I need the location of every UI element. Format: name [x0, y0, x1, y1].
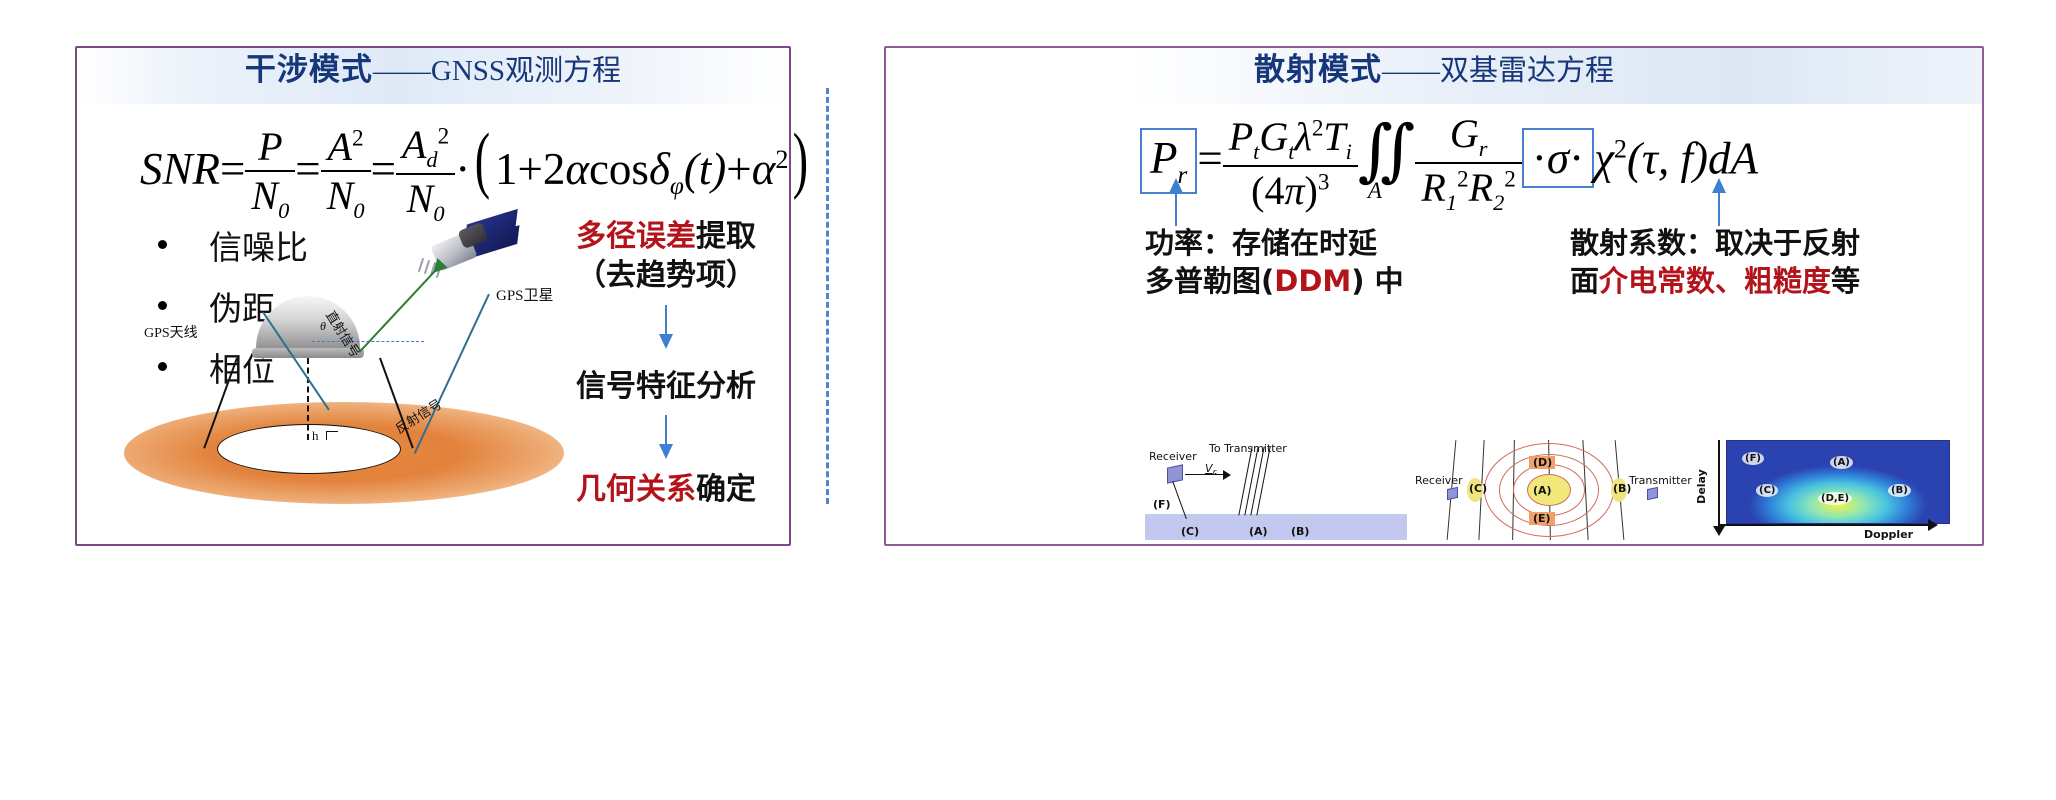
scattering-geometry-diagram: Receiver To Transmitter Vr (F) (C) (A) (… [1145, 440, 1407, 540]
arrow-down-icon [651, 305, 681, 351]
glistening-transmitter-label: Transmitter [1629, 474, 1692, 487]
arrow-up-sigma-icon [1706, 178, 1732, 226]
delay-axis-arrow [1713, 526, 1725, 536]
fraction-numerator: PtGtλ2Ti [1223, 113, 1358, 165]
ddm-marker-a: (A) [1830, 456, 1853, 469]
num-sub: d [426, 147, 437, 172]
fraction-denominator: (4π)3 [1223, 165, 1358, 214]
flow-step-1-subtitle: （去趋势项） [566, 256, 766, 295]
point-f-label: (F) [1153, 498, 1171, 511]
fraction-denominator: R12R22 [1415, 162, 1521, 216]
power-caption-line1: 功率：存储在时延 [1145, 224, 1404, 262]
ddm-marker-de: (D,E) [1818, 492, 1852, 505]
right-title-normal: ——双基雷达方程 [1382, 55, 1614, 87]
right-panel-title: 散射模式——双基雷达方程 [886, 55, 1982, 86]
point-a-label: (A) [1249, 525, 1268, 538]
chi-args: (τ, f) [1627, 133, 1708, 183]
alpha-squared: α [752, 144, 776, 194]
zone-c-label: (C) [1469, 482, 1487, 495]
doppler-axis-arrow [1928, 519, 1938, 531]
eq-equals-3: = [371, 144, 396, 194]
delta-symbol: δ [649, 144, 670, 194]
diagram-canvas: (D) (C) (A) (B) (E) Receiver Transmitter [1415, 440, 1683, 540]
integral-domain: A [1368, 178, 1382, 204]
doppler-axis-line [1718, 524, 1932, 526]
flow-step-3: 几何关系确定 [566, 471, 766, 509]
to-transmitter-label: To Transmitter [1209, 442, 1287, 455]
chi-symbol: χ [1594, 133, 1614, 183]
arrow-up-power-icon [1163, 178, 1189, 226]
fraction-numerator: A2 [321, 123, 371, 170]
sigma-symbol: σ [1547, 133, 1569, 183]
velocity-label: Vr [1205, 462, 1216, 478]
paren-open: ( [1251, 168, 1264, 213]
sigma-suffix: 等 [1831, 264, 1860, 298]
zone-a-label: (A) [1533, 484, 1552, 497]
right-title-bold: 散射模式 [1254, 52, 1382, 88]
power-caption: 功率：存储在时延 多普勒图(DDM) 中 [1145, 224, 1404, 301]
dot-right: · [1569, 133, 1584, 183]
zone-e-label: (E) [1533, 512, 1551, 525]
ti-subscript: i [1346, 139, 1352, 164]
ddm-suffix: ) 中 [1351, 264, 1403, 298]
pr-symbol: P [1150, 133, 1178, 183]
pi-symbol: π [1284, 168, 1304, 213]
left-panel-title: 干涉模式——GNSS观测方程 [77, 55, 789, 86]
point-c-label: (C) [1181, 525, 1199, 538]
flow-step-3-red: 几何关系 [576, 472, 696, 507]
receiver-label: Receiver [1149, 450, 1197, 463]
point-b-label: (B) [1291, 525, 1309, 538]
gnss-interferometry-illustration: h θ GPS天线 GPS卫星 直射信号 反射信号 [96, 206, 566, 506]
lambda-exponent: 2 [1312, 115, 1324, 141]
sigma-prefix: 面 [1570, 264, 1599, 298]
cos-operator: cos [589, 144, 649, 194]
satellite-label: GPS卫星 [496, 284, 554, 305]
r1-subscript: 1 [1446, 190, 1457, 215]
flow-step-2: 信号特征分析 [566, 361, 766, 405]
four-literal: 4 [1264, 168, 1284, 213]
cube-exponent: 3 [1318, 169, 1330, 195]
left-flow-column: 多径误差提取 （去趋势项） 信号特征分析 几何关系确定 [566, 218, 766, 509]
flow-step-1-red: 多径误差 [576, 219, 696, 254]
power-caption-line2: 多普勒图(DDM) 中 [1145, 262, 1404, 300]
glistening-receiver-label: Receiver [1415, 474, 1463, 487]
ddm-marker-b: (B) [1888, 484, 1911, 497]
plus-sign-2: + [726, 144, 751, 194]
height-dashed-line [307, 358, 311, 440]
differential-area: dA [1708, 133, 1758, 183]
velocity-arrowhead [1223, 470, 1231, 480]
paren-close: ) [793, 118, 808, 203]
ddm-plot-area: (F) (A) (C) (D,E) (B) [1726, 440, 1950, 524]
num-a: A [328, 124, 352, 169]
doppler-axis-label: Doppler [1864, 528, 1913, 541]
receiver-icon [1167, 464, 1183, 483]
fraction-numerator: Gr [1415, 110, 1521, 162]
dot-left: · [1532, 133, 1547, 183]
fraction-gr-r1r2: GrR12R22 [1415, 110, 1521, 216]
eq-equals: = [1197, 133, 1222, 183]
sigma-highlight: 介电常数、粗糙度 [1599, 264, 1831, 298]
scattering-coefficient-box: ·σ· [1522, 128, 1594, 188]
alpha-exponent: 2 [775, 145, 788, 174]
left-panel-header: 干涉模式——GNSS观测方程 [77, 48, 789, 104]
sigma-caption: 散射系数：取决于反射 面介电常数、粗糙度等 [1570, 224, 1860, 301]
velocity-subscript: r [1213, 467, 1217, 478]
ddm-marker-f: (F) [1742, 452, 1764, 465]
eq-dot: · [455, 144, 470, 194]
r2-symbol: R [1469, 165, 1493, 210]
gt-symbol: G [1259, 114, 1288, 159]
fraction-numerator: P [245, 123, 295, 170]
term-one: 1 [495, 144, 518, 194]
eq-lhs: SNR [140, 144, 220, 194]
sigma-caption-line1: 散射系数：取决于反射 [1570, 224, 1860, 262]
right-panel-header: 散射模式——双基雷达方程 [886, 48, 1982, 104]
height-label: h [312, 428, 319, 444]
alpha-symbol: α [565, 144, 589, 194]
paren-close: ) [1305, 168, 1318, 213]
ddm-acronym: DDM [1274, 264, 1351, 298]
r2-subscript: 2 [1493, 190, 1504, 215]
antenna-label: GPS天线 [144, 322, 198, 342]
left-title-normal: ——GNSS观测方程 [373, 55, 621, 87]
delay-axis-label: Delay [1695, 469, 1708, 504]
pt-symbol: P [1229, 114, 1253, 159]
left-title-bold: 干涉模式 [245, 52, 373, 88]
velocity-arrow [1185, 474, 1225, 475]
diagram-canvas: Receiver To Transmitter Vr (F) (C) (A) (… [1145, 440, 1407, 540]
sigma-caption-line2: 面介电常数、粗糙度等 [1570, 262, 1860, 300]
chi-exponent: 2 [1614, 134, 1627, 163]
time-arg: (t) [684, 144, 726, 194]
num-sup: 2 [352, 126, 364, 152]
panel-divider [826, 88, 829, 504]
gps-satellite-icon [394, 210, 514, 290]
glistening-zone-diagram: (D) (C) (A) (B) (E) Receiver Transmitter [1415, 440, 1683, 540]
delta-subscript: φ [670, 173, 684, 200]
double-integral-symbol: ∬A [1358, 110, 1415, 190]
ddm-prefix: 多普勒图( [1145, 264, 1274, 298]
glistening-transmitter-icon [1647, 487, 1658, 500]
ddm-heatmap-diagram: (F) (A) (C) (D,E) (B) Delay Doppler [1700, 440, 1950, 540]
plus-sign: + [517, 144, 542, 194]
ray-line [1256, 447, 1270, 516]
paren-open: ( [475, 118, 490, 203]
fraction-main: PtGtλ2Ti(4π)3 [1223, 113, 1358, 214]
gr-symbol: G [1450, 111, 1479, 156]
slide-root: 干涉模式——GNSS观测方程 SNR=PN0=A2N0=Ad2N0·(1+2αc… [0, 0, 2056, 800]
gr-subscript: r [1479, 136, 1488, 161]
eq-equals-1: = [220, 144, 245, 194]
num-a: A [402, 122, 426, 167]
flow-step-1: 多径误差提取 [566, 218, 766, 256]
lambda-symbol: λ [1295, 114, 1312, 159]
flow-step-1-black: 提取 [696, 219, 756, 254]
ti-symbol: T [1323, 114, 1345, 159]
num-sup: 2 [438, 123, 450, 149]
flow-step-3-black: 确定 [696, 472, 756, 507]
integral-glyph: ∬ [1358, 113, 1415, 188]
zone-d-label: (D) [1533, 456, 1552, 469]
arrow-down-icon [651, 415, 681, 461]
r1-symbol: R [1421, 165, 1445, 210]
delay-axis-line [1718, 440, 1720, 532]
coef-two: 2 [543, 144, 566, 194]
right-equation: Pr=PtGtλ2Ti(4π)3∬AGrR12R22·σ·χ2(τ, f)dA [1140, 110, 1758, 216]
r1-exponent: 2 [1457, 167, 1469, 193]
eq-equals-2: = [295, 144, 320, 194]
r2-exponent: 2 [1504, 167, 1516, 193]
fraction-numerator: Ad2 [396, 121, 455, 173]
glistening-receiver-icon [1447, 487, 1458, 500]
